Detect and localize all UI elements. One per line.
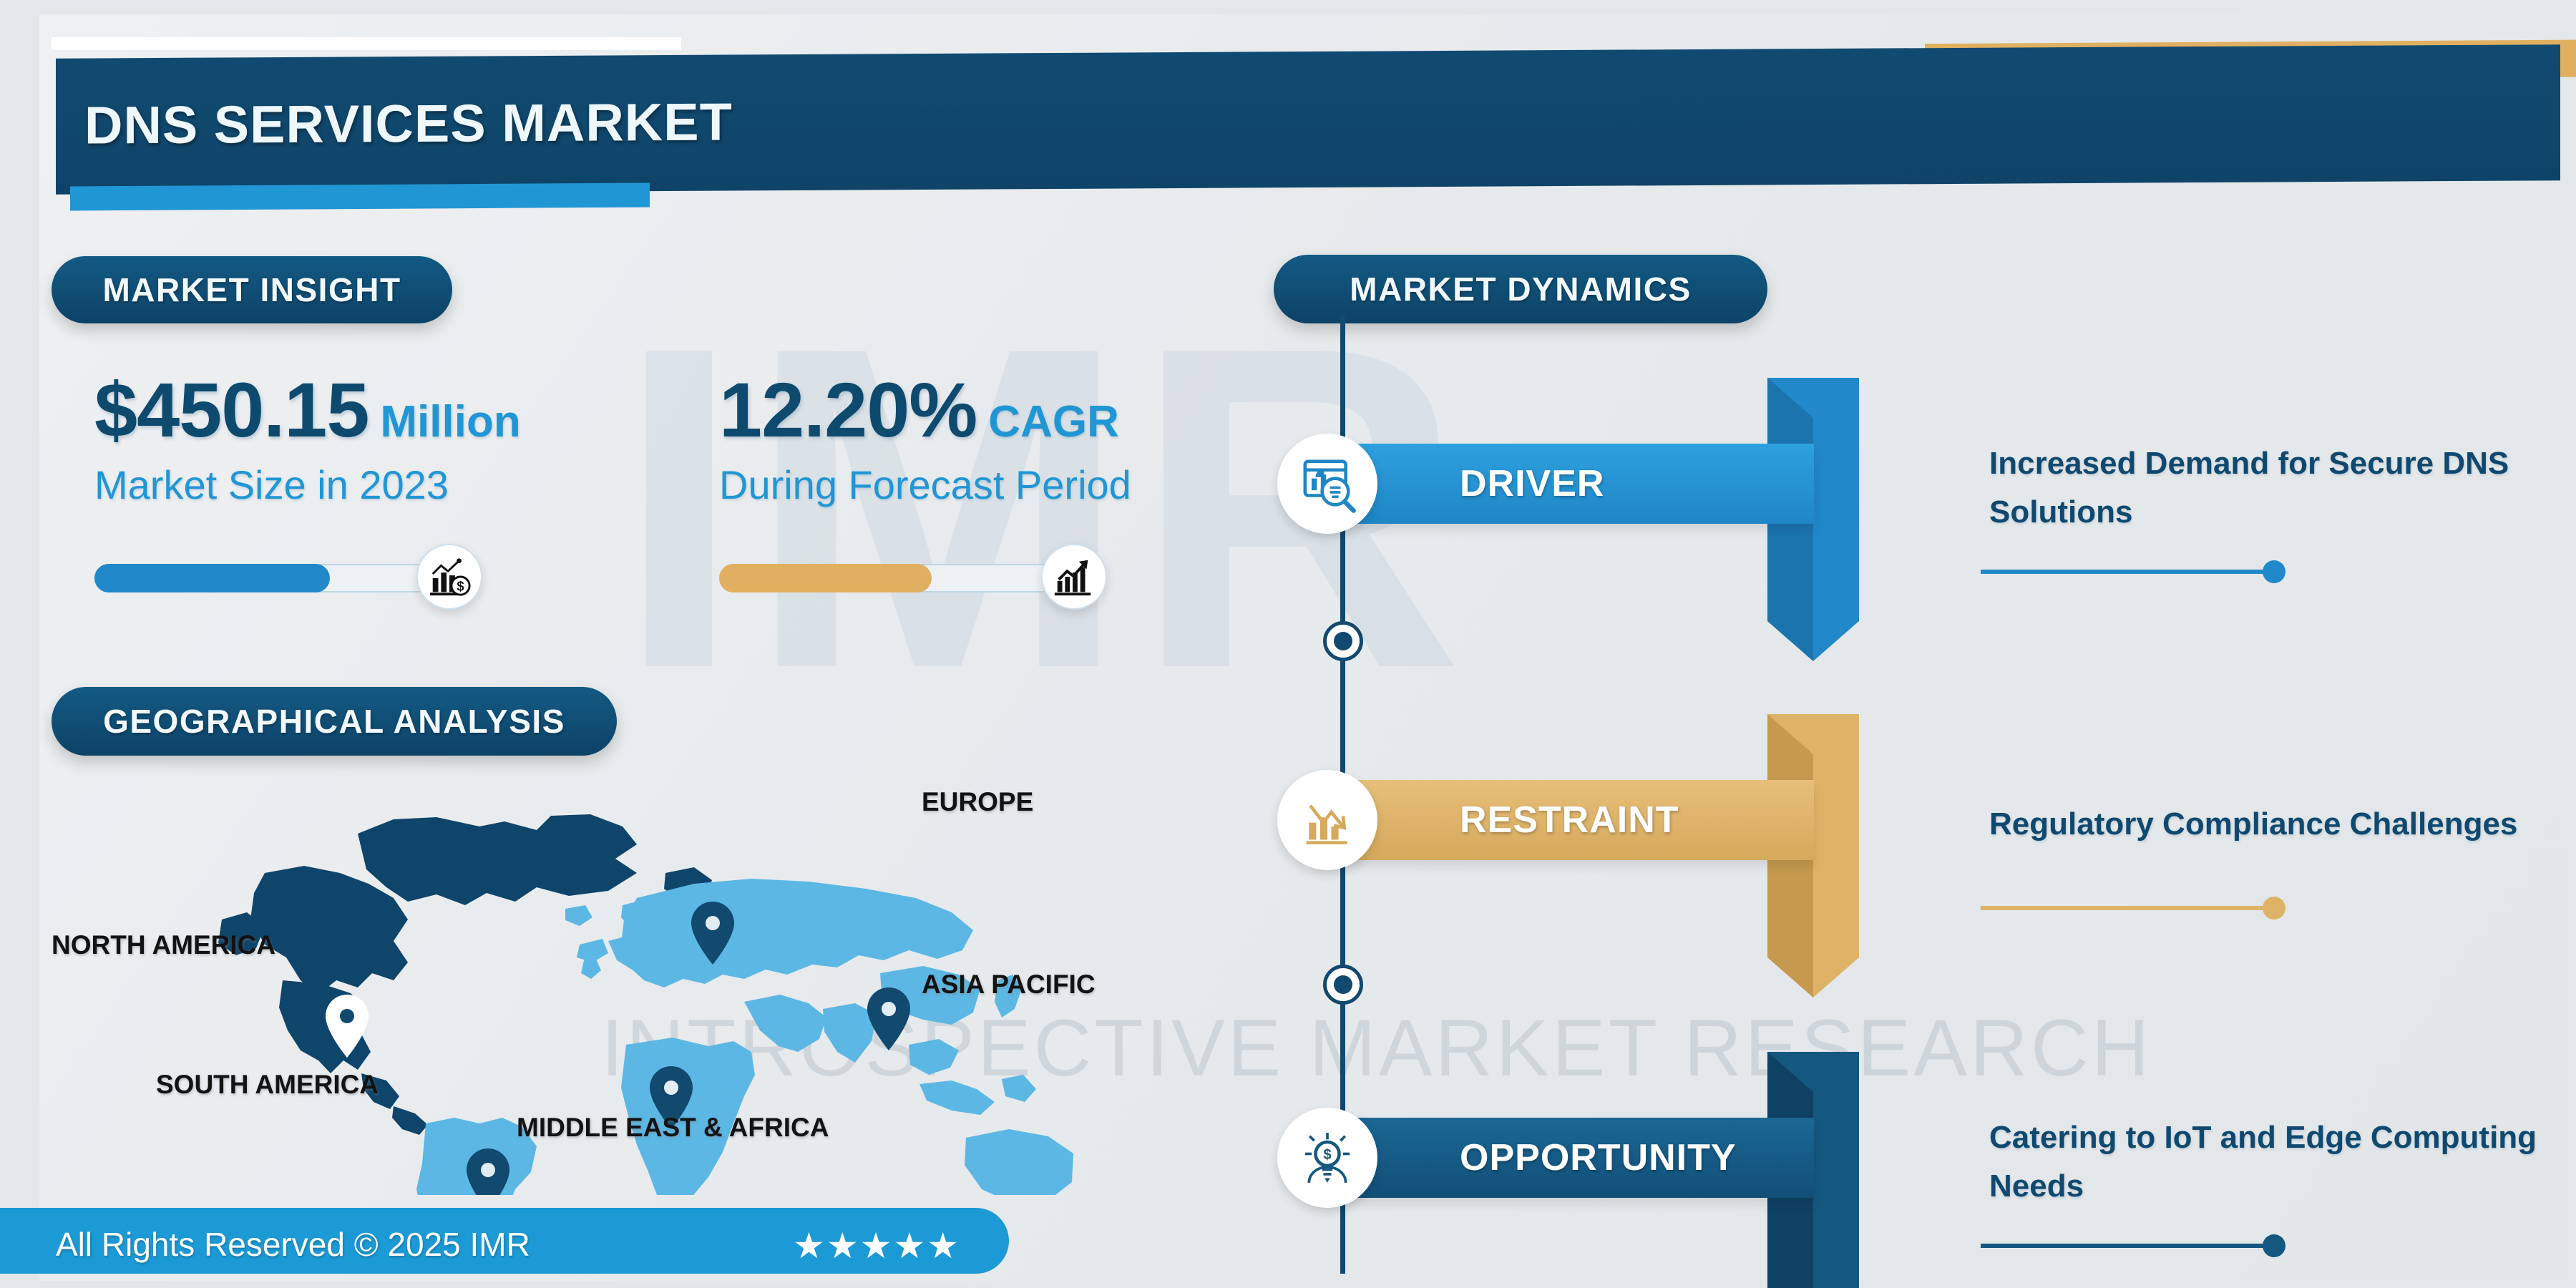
market-insight-pill: MARKET INSIGHT — [52, 256, 452, 323]
market-dynamics-pill: MARKET DYNAMICS — [1274, 255, 1767, 323]
lightbulb-dollar-icon: $ — [1277, 1108, 1377, 1208]
dynamics-row-driver: DRIVER Increased Demand for Secure DNS S… — [1274, 444, 2533, 630]
dynamics-row-restraint: RESTRAINT Regulatory Compliance Challeng… — [1274, 780, 2533, 966]
header-top-highlight — [52, 37, 681, 50]
map-label-europe: EUROPE — [922, 787, 1033, 817]
driver-label: DRIVER — [1460, 444, 1604, 524]
pin-south-america — [467, 1148, 509, 1195]
infographic-page: IMR INTROSPECTIVE MARKET RESEARCH DNS SE… — [0, 0, 2576, 1288]
restraint-text: Regulatory Compliance Challenges — [1989, 800, 2576, 849]
declining-bar-chart-icon — [1277, 770, 1377, 870]
growth-arrow-chart-icon — [1041, 544, 1107, 610]
header-underline-accent — [70, 183, 650, 211]
bar-chart-dollar-icon: $ — [416, 544, 482, 610]
cagr-caption: During Forecast Period — [719, 462, 1131, 508]
driver-endpoint-dot — [2263, 560, 2285, 583]
svg-text:$: $ — [1323, 1147, 1331, 1163]
opportunity-endpoint-dot — [2263, 1234, 2285, 1257]
map-label-asia-pacific: ASIA PACIFIC — [922, 970, 1096, 1000]
copyright-text: All Rights Reserved © 2025 IMR — [56, 1225, 530, 1264]
market-size-value: $450.15 — [94, 365, 369, 454]
map-region-base — [416, 879, 1102, 1195]
stat-market-size: $450.15 Million Market Size in 2023 — [94, 365, 521, 508]
market-dynamics-timeline: DRIVER Increased Demand for Secure DNS S… — [1274, 315, 2533, 1288]
rating-stars: ★★★★★ — [793, 1225, 960, 1267]
opportunity-underline — [1981, 1244, 2274, 1248]
market-size-progress: $ — [94, 558, 474, 595]
dynamics-row-opportunity: $ OPPORTUNITY Catering to IoT and Edge C… — [1274, 1118, 2533, 1288]
timeline-node — [1323, 965, 1363, 1005]
restraint-underline — [1981, 906, 2274, 910]
restraint-endpoint-dot — [2263, 897, 2285, 919]
opportunity-text: Catering to IoT and Edge Computing Needs — [1989, 1113, 2576, 1211]
market-size-caption: Market Size in 2023 — [94, 462, 521, 508]
driver-underline — [1981, 570, 2274, 574]
pin-asia-pacific — [867, 987, 910, 1050]
progress-fill — [719, 564, 932, 592]
map-label-middle-east-africa: MIDDLE EAST & AFRICA — [517, 1113, 829, 1143]
geographical-analysis-pill: GEOGRAPHICAL ANALYSIS — [52, 687, 617, 756]
cagr-value: 12.20% — [719, 365, 977, 454]
market-size-unit: Million — [380, 396, 520, 447]
analytics-search-icon — [1277, 434, 1377, 534]
page-title: DNS SERVICES MARKET — [84, 91, 733, 155]
svg-text:$: $ — [457, 578, 464, 593]
restraint-label: RESTRAINT — [1460, 780, 1679, 860]
map-label-north-america: NORTH AMERICA — [52, 930, 275, 960]
cagr-progress — [719, 558, 1098, 595]
opportunity-label: OPPORTUNITY — [1460, 1118, 1737, 1198]
progress-fill — [94, 564, 330, 592]
driver-text: Increased Demand for Secure DNS Solution… — [1989, 439, 2576, 537]
map-label-south-america: SOUTH AMERICA — [156, 1070, 379, 1100]
stat-cagr: 12.20% CAGR During Forecast Period — [719, 365, 1131, 508]
cagr-unit: CAGR — [988, 396, 1119, 447]
